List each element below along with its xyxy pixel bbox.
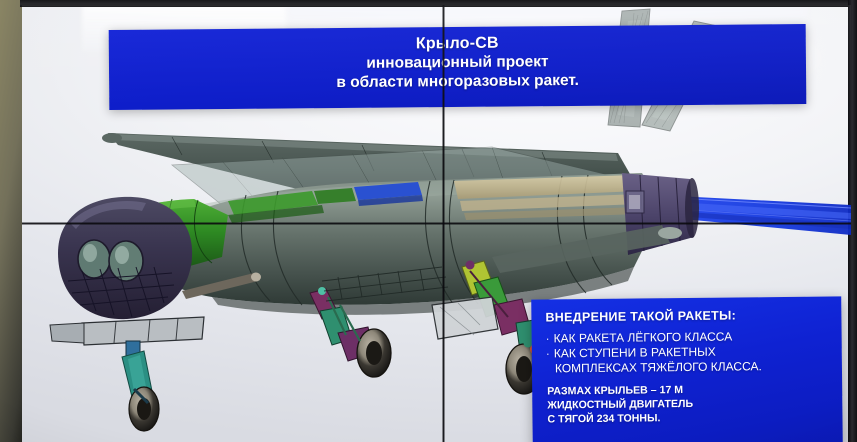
spec-note-3: С ТЯГОЙ 234 ТОННЫ. (547, 410, 831, 427)
wall-panel-seam-horizontal (22, 222, 851, 225)
bullet-marker-icon: · (546, 331, 550, 346)
spec-notes: РАЗМАХ КРЫЛЬЕВ – 17 М ЖИДКОСТНЫЙ ДВИГАТЕ… (546, 382, 831, 427)
slide-spec-panel: ВНЕДРЕНИЕ ТАКОЙ РАКЕТЫ: · КАК РАКЕТА ЛЁГ… (531, 296, 843, 442)
slide-title-banner: Крыло-СВ инновационный проект в области … (109, 24, 807, 110)
spec-bullet-2-cont: КОМПЛЕКСАХ ТЯЖЁЛОГО КЛАССА. (546, 359, 831, 377)
bullet-marker-icon: · (546, 347, 550, 362)
spec-heading: ВНЕДРЕНИЕ ТАКОЙ РАКЕТЫ: (545, 307, 830, 324)
video-wall-scene: Крыло-СВ инновационный проект в области … (0, 0, 857, 442)
video-wall-screen: Крыло-СВ инновационный проект в области … (22, 5, 851, 442)
